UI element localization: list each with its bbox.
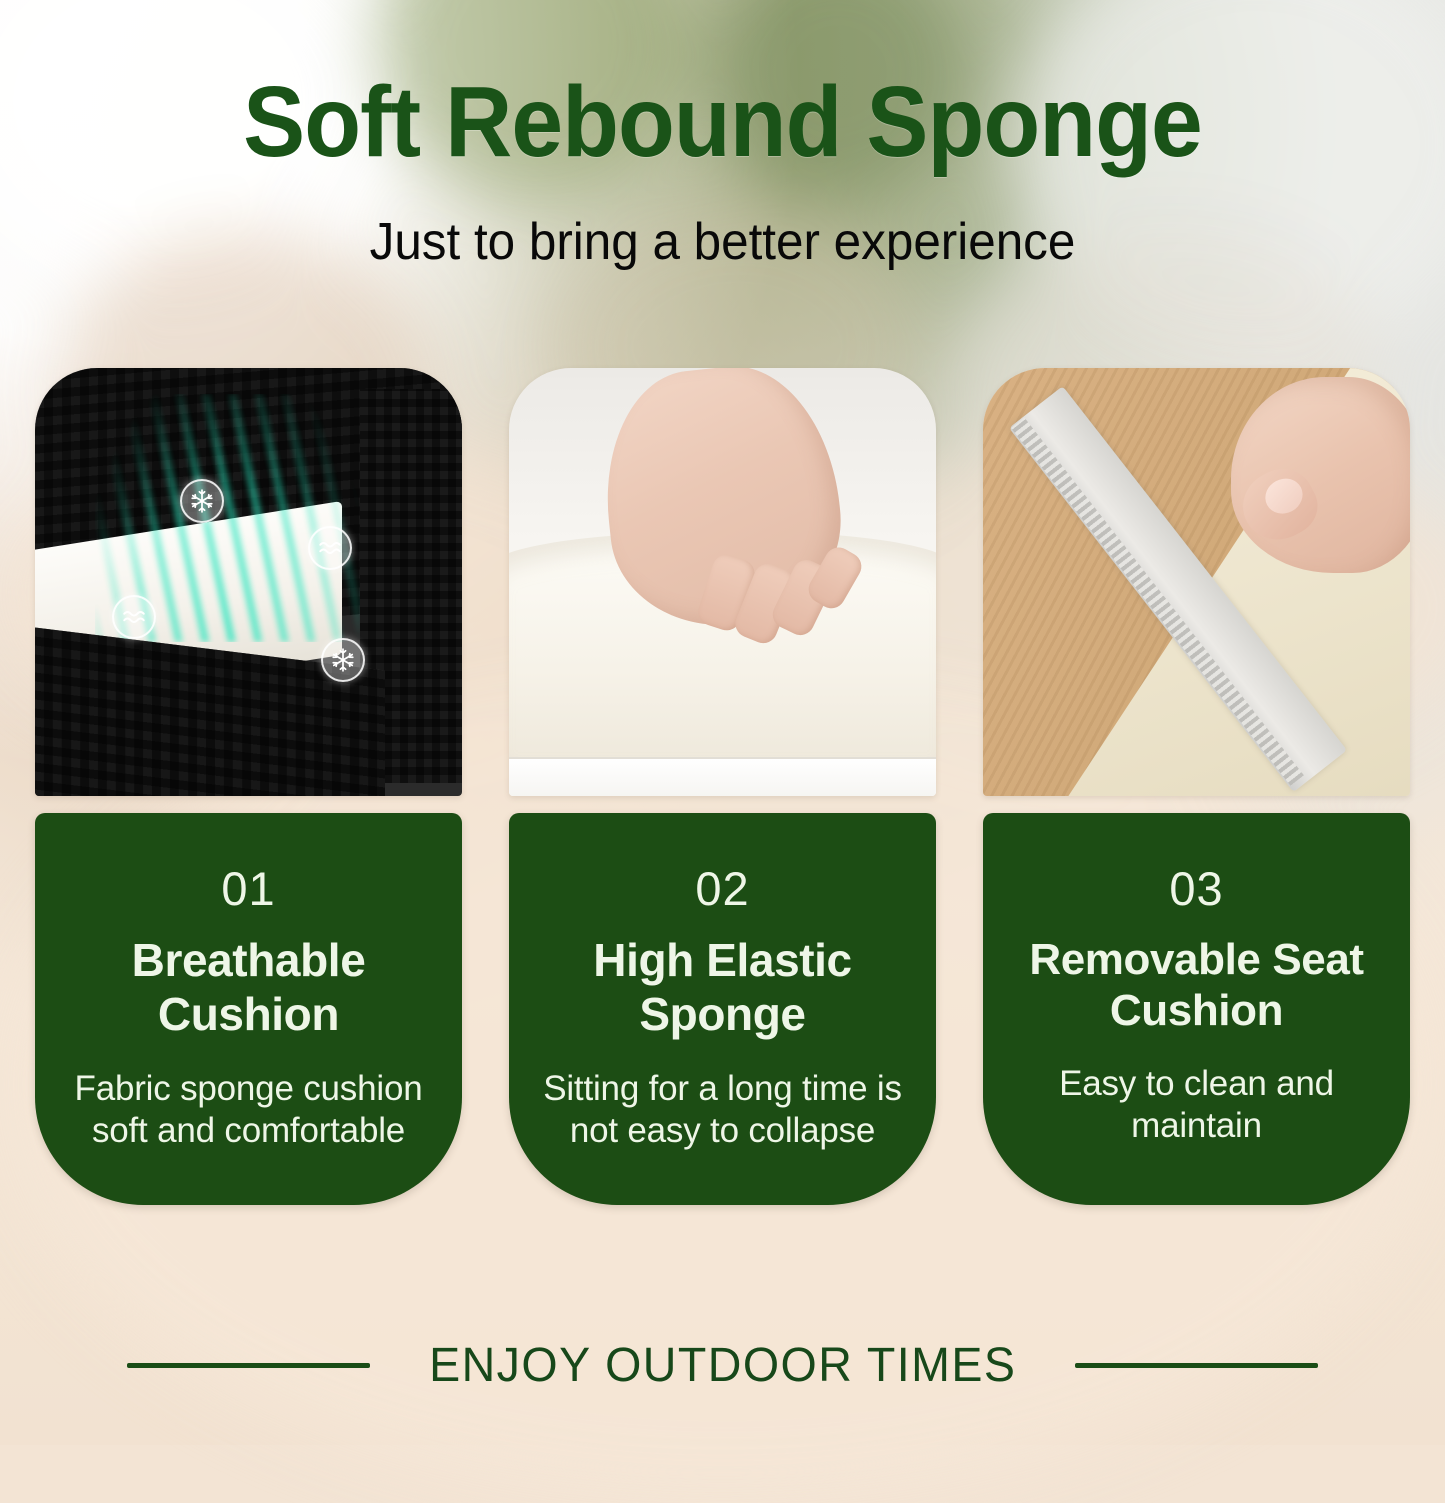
- feature-description: Fabric sponge cushion soft and comfortab…: [61, 1068, 436, 1152]
- photo-breathable-cushion: [35, 368, 462, 796]
- footer-rule-left: [127, 1363, 370, 1368]
- feature-grid: 01 Breathable Cushion Fabric sponge cush…: [35, 368, 1410, 1205]
- feature-card-02: 02 High Elastic Sponge Sitting for a lon…: [509, 368, 936, 1205]
- footer-rule-right: [1075, 1363, 1318, 1368]
- photo-removable-seat-cushion: [983, 368, 1410, 796]
- info-card-01: 01 Breathable Cushion Fabric sponge cush…: [35, 813, 462, 1205]
- page-subtitle: Just to bring a better experience: [36, 212, 1409, 272]
- feature-heading: High Elastic Sponge: [535, 934, 910, 1042]
- feature-description: Easy to clean and maintain: [1009, 1063, 1384, 1147]
- info-card-02: 02 High Elastic Sponge Sitting for a lon…: [509, 813, 936, 1205]
- feature-card-03: 03 Removable Seat Cushion Easy to clean …: [983, 368, 1410, 1205]
- feature-number: 02: [535, 865, 910, 912]
- photo2-base: [509, 757, 936, 796]
- wave-icon: [112, 595, 156, 639]
- photo-high-elastic-sponge: [509, 368, 936, 796]
- header: Soft Rebound Sponge Just to bring a bett…: [0, 0, 1445, 300]
- footer-slogan: ENJOY OUTDOOR TIMES: [429, 1338, 1016, 1393]
- feature-number: 03: [1009, 865, 1384, 912]
- footer: ENJOY OUTDOOR TIMES: [0, 1338, 1445, 1393]
- page-title: Soft Rebound Sponge: [51, 70, 1395, 174]
- feature-heading: Breathable Cushion: [61, 934, 436, 1042]
- info-card-03: 03 Removable Seat Cushion Easy to clean …: [983, 813, 1410, 1205]
- feature-description: Sitting for a long time is not easy to c…: [535, 1068, 910, 1152]
- feature-number: 01: [61, 865, 436, 912]
- photo3-hand: [1231, 377, 1410, 574]
- snowflake-icon: [321, 638, 365, 682]
- feature-heading: Removable Seat Cushion: [1009, 934, 1384, 1037]
- feature-card-01: 01 Breathable Cushion Fabric sponge cush…: [35, 368, 462, 1205]
